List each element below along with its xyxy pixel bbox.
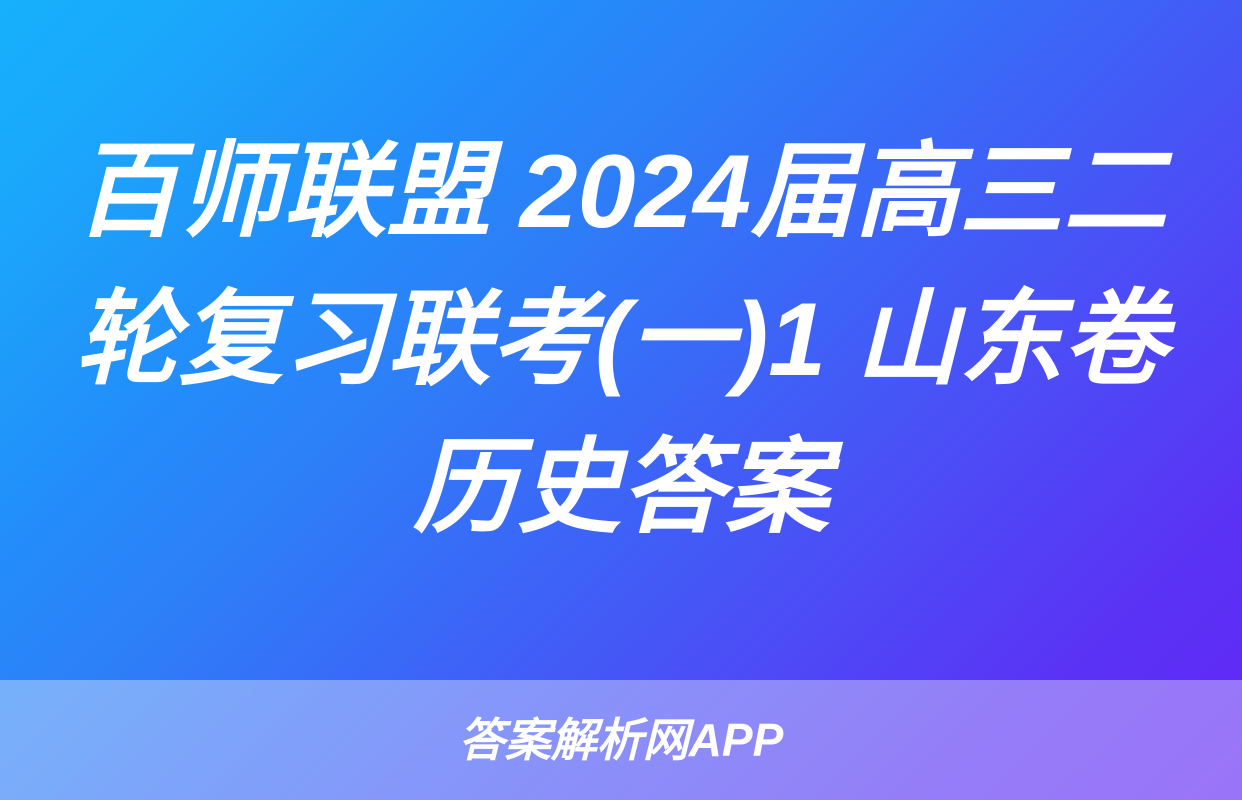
page-title: 百师联盟 2024届高三二轮复习联考(一)1 山东卷历史答案	[60, 118, 1182, 562]
answer-cover-card: 百师联盟 2024届高三二轮复习联考(一)1 山东卷历史答案 答案解析网APP	[0, 0, 1242, 800]
app-watermark-label: 答案解析网APP	[459, 717, 784, 763]
footer-watermark-band: 答案解析网APP	[0, 680, 1242, 800]
title-block: 百师联盟 2024届高三二轮复习联考(一)1 山东卷历史答案	[0, 0, 1242, 680]
